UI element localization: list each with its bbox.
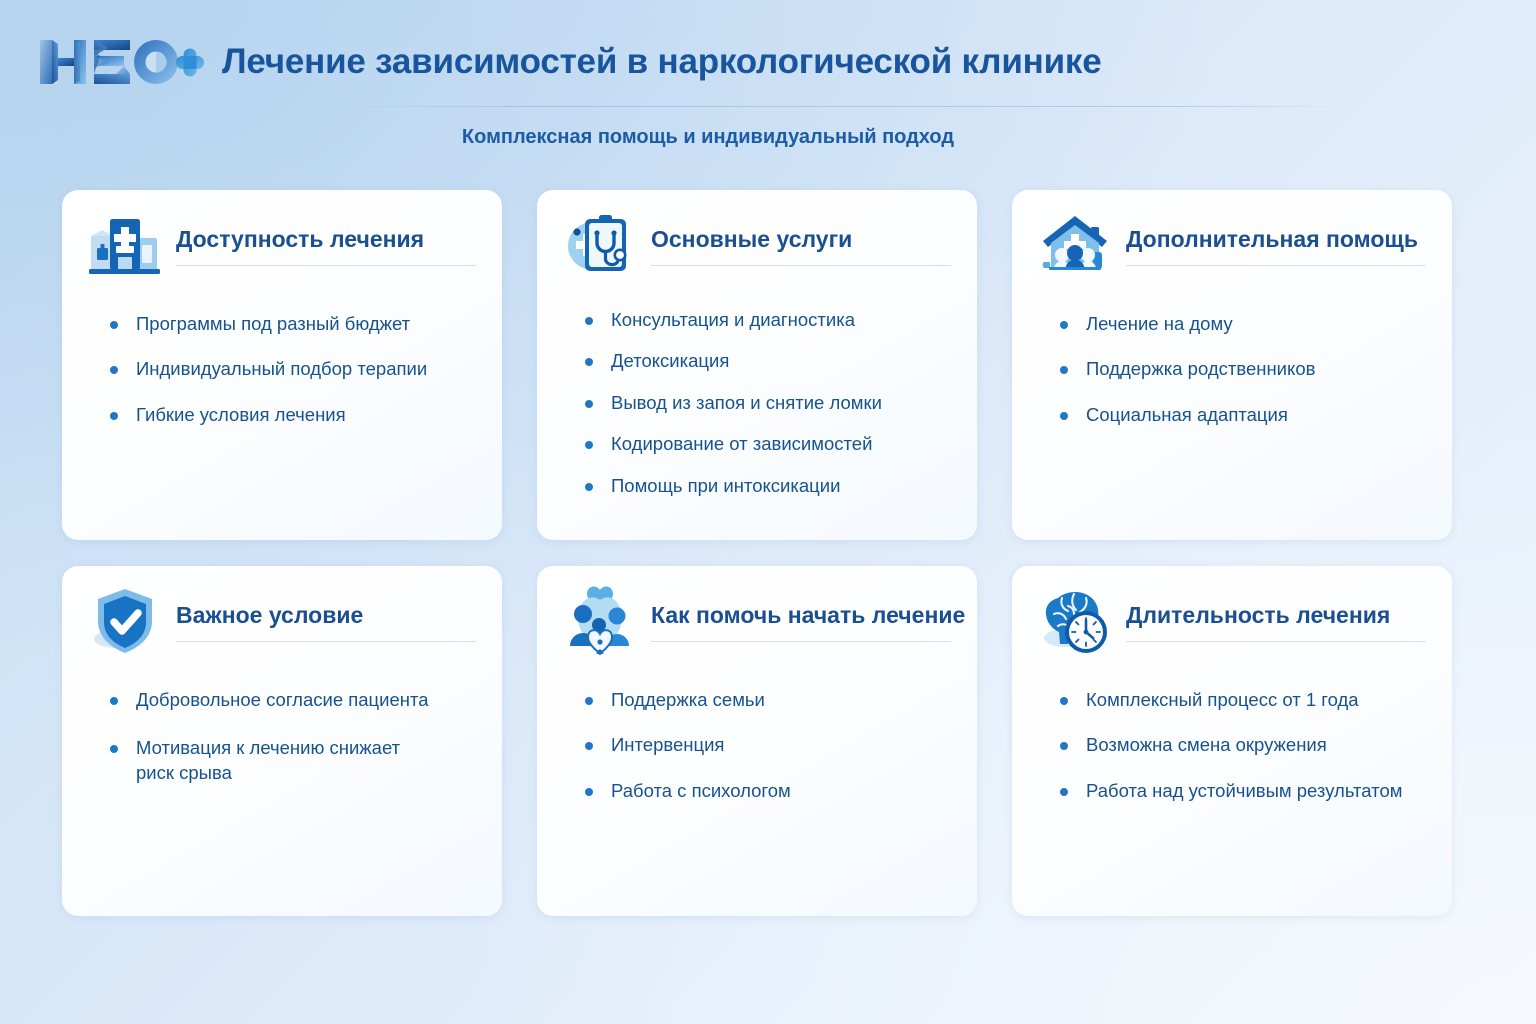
- bullet-list: Лечение на дому Поддержка родственников …: [1060, 312, 1426, 427]
- page-subtitle: Комплексная помощь и индивидуальный подх…: [0, 126, 1536, 149]
- list-item: Возможна смена окружения: [1060, 733, 1426, 757]
- card-header: Доступность лечения: [88, 212, 476, 286]
- list-item: Поддержка семьи: [585, 688, 951, 712]
- list-item: Комплексный процесс от 1 года: [1060, 688, 1426, 712]
- card-header: Дополнительная помощь: [1038, 212, 1426, 286]
- card-divider: [1126, 641, 1426, 642]
- card-title-wrap: Основные услуги: [651, 212, 951, 266]
- header-divider: [330, 106, 1356, 107]
- card-header: Длительность лечения: [1038, 588, 1426, 662]
- card-title: Основные услуги: [651, 226, 951, 252]
- page-header: Лечение зависимостей в наркологической к…: [0, 0, 1536, 170]
- list-item: Работа с психологом: [585, 779, 951, 803]
- bullet-list: Добровольное согласие пациента Мотивация…: [110, 688, 476, 785]
- list-item: Помощь при интоксикации: [585, 474, 951, 498]
- card-title: Длительность лечения: [1126, 602, 1426, 628]
- list-item: Консультация и диагностика: [585, 308, 951, 332]
- neo-plus-logo-icon: [36, 34, 206, 90]
- card-how-to-start: Как помочь начать лечение Поддержка семь…: [537, 566, 977, 916]
- card-title-wrap: Важное условие: [176, 588, 476, 642]
- bullet-list: Консультация и диагностика Детоксикация …: [585, 308, 951, 498]
- brain-clock-icon: [1038, 584, 1112, 658]
- card-header: Основные услуги: [563, 212, 951, 286]
- card-divider: [176, 265, 476, 266]
- list-item: Мотивация к лечению снижает риск срыва: [110, 736, 410, 785]
- card-title-wrap: Дополнительная помощь: [1126, 212, 1426, 266]
- bullet-list: Поддержка семьи Интервенция Работа с пси…: [585, 688, 951, 803]
- list-item: Детоксикация: [585, 349, 951, 373]
- list-item: Индивидуальный подбор терапии: [110, 357, 476, 381]
- bullet-list: Программы под разный бюджет Индивидуальн…: [110, 312, 476, 427]
- page-title: Лечение зависимостей в наркологической к…: [222, 43, 1102, 82]
- card-title-wrap: Доступность лечения: [176, 212, 476, 266]
- card-header: Важное условие: [88, 588, 476, 662]
- header-row: Лечение зависимостей в наркологической к…: [0, 0, 1536, 90]
- card-additional-help: Дополнительная помощь Лечение на дому По…: [1012, 190, 1452, 540]
- house-family-icon: [1038, 208, 1112, 282]
- clipboard-stethoscope-icon: [563, 208, 637, 282]
- card-title: Дополнительная помощь: [1126, 226, 1426, 252]
- card-main-services: Основные услуги Консультация и диагности…: [537, 190, 977, 540]
- list-item: Вывод из запоя и снятие ломки: [585, 391, 951, 415]
- card-treatment-availability: Доступность лечения Программы под разный…: [62, 190, 502, 540]
- card-title: Как помочь начать лечение: [651, 602, 951, 628]
- card-important-condition: Важное условие Добровольное согласие пац…: [62, 566, 502, 916]
- list-item: Поддержка родственников: [1060, 357, 1426, 381]
- bullet-list: Комплексный процесс от 1 года Возможна с…: [1060, 688, 1426, 803]
- list-item: Добровольное согласие пациента: [110, 688, 476, 712]
- list-item: Интервенция: [585, 733, 951, 757]
- list-item: Лечение на дому: [1060, 312, 1426, 336]
- card-treatment-duration: Длительность лечения Комплексный процесс…: [1012, 566, 1452, 916]
- list-item: Социальная адаптация: [1060, 403, 1426, 427]
- family-heart-icon: [563, 584, 637, 658]
- card-title-wrap: Как помочь начать лечение: [651, 588, 951, 642]
- infographic-page: Лечение зависимостей в наркологической к…: [0, 0, 1536, 1024]
- shield-check-icon: [88, 584, 162, 658]
- card-header: Как помочь начать лечение: [563, 588, 951, 662]
- card-title: Доступность лечения: [176, 226, 476, 252]
- list-item: Гибкие условия лечения: [110, 403, 476, 427]
- list-item: Кодирование от зависимостей: [585, 432, 951, 456]
- card-divider: [176, 641, 476, 642]
- list-item: Программы под разный бюджет: [110, 312, 476, 336]
- card-grid: Доступность лечения Программы под разный…: [62, 190, 1472, 916]
- card-divider: [651, 641, 951, 642]
- card-divider: [651, 265, 951, 266]
- card-title-wrap: Длительность лечения: [1126, 588, 1426, 642]
- hospital-building-icon: [88, 208, 162, 282]
- card-title: Важное условие: [176, 602, 476, 628]
- card-divider: [1126, 265, 1426, 266]
- list-item: Работа над устойчивым результатом: [1060, 779, 1426, 803]
